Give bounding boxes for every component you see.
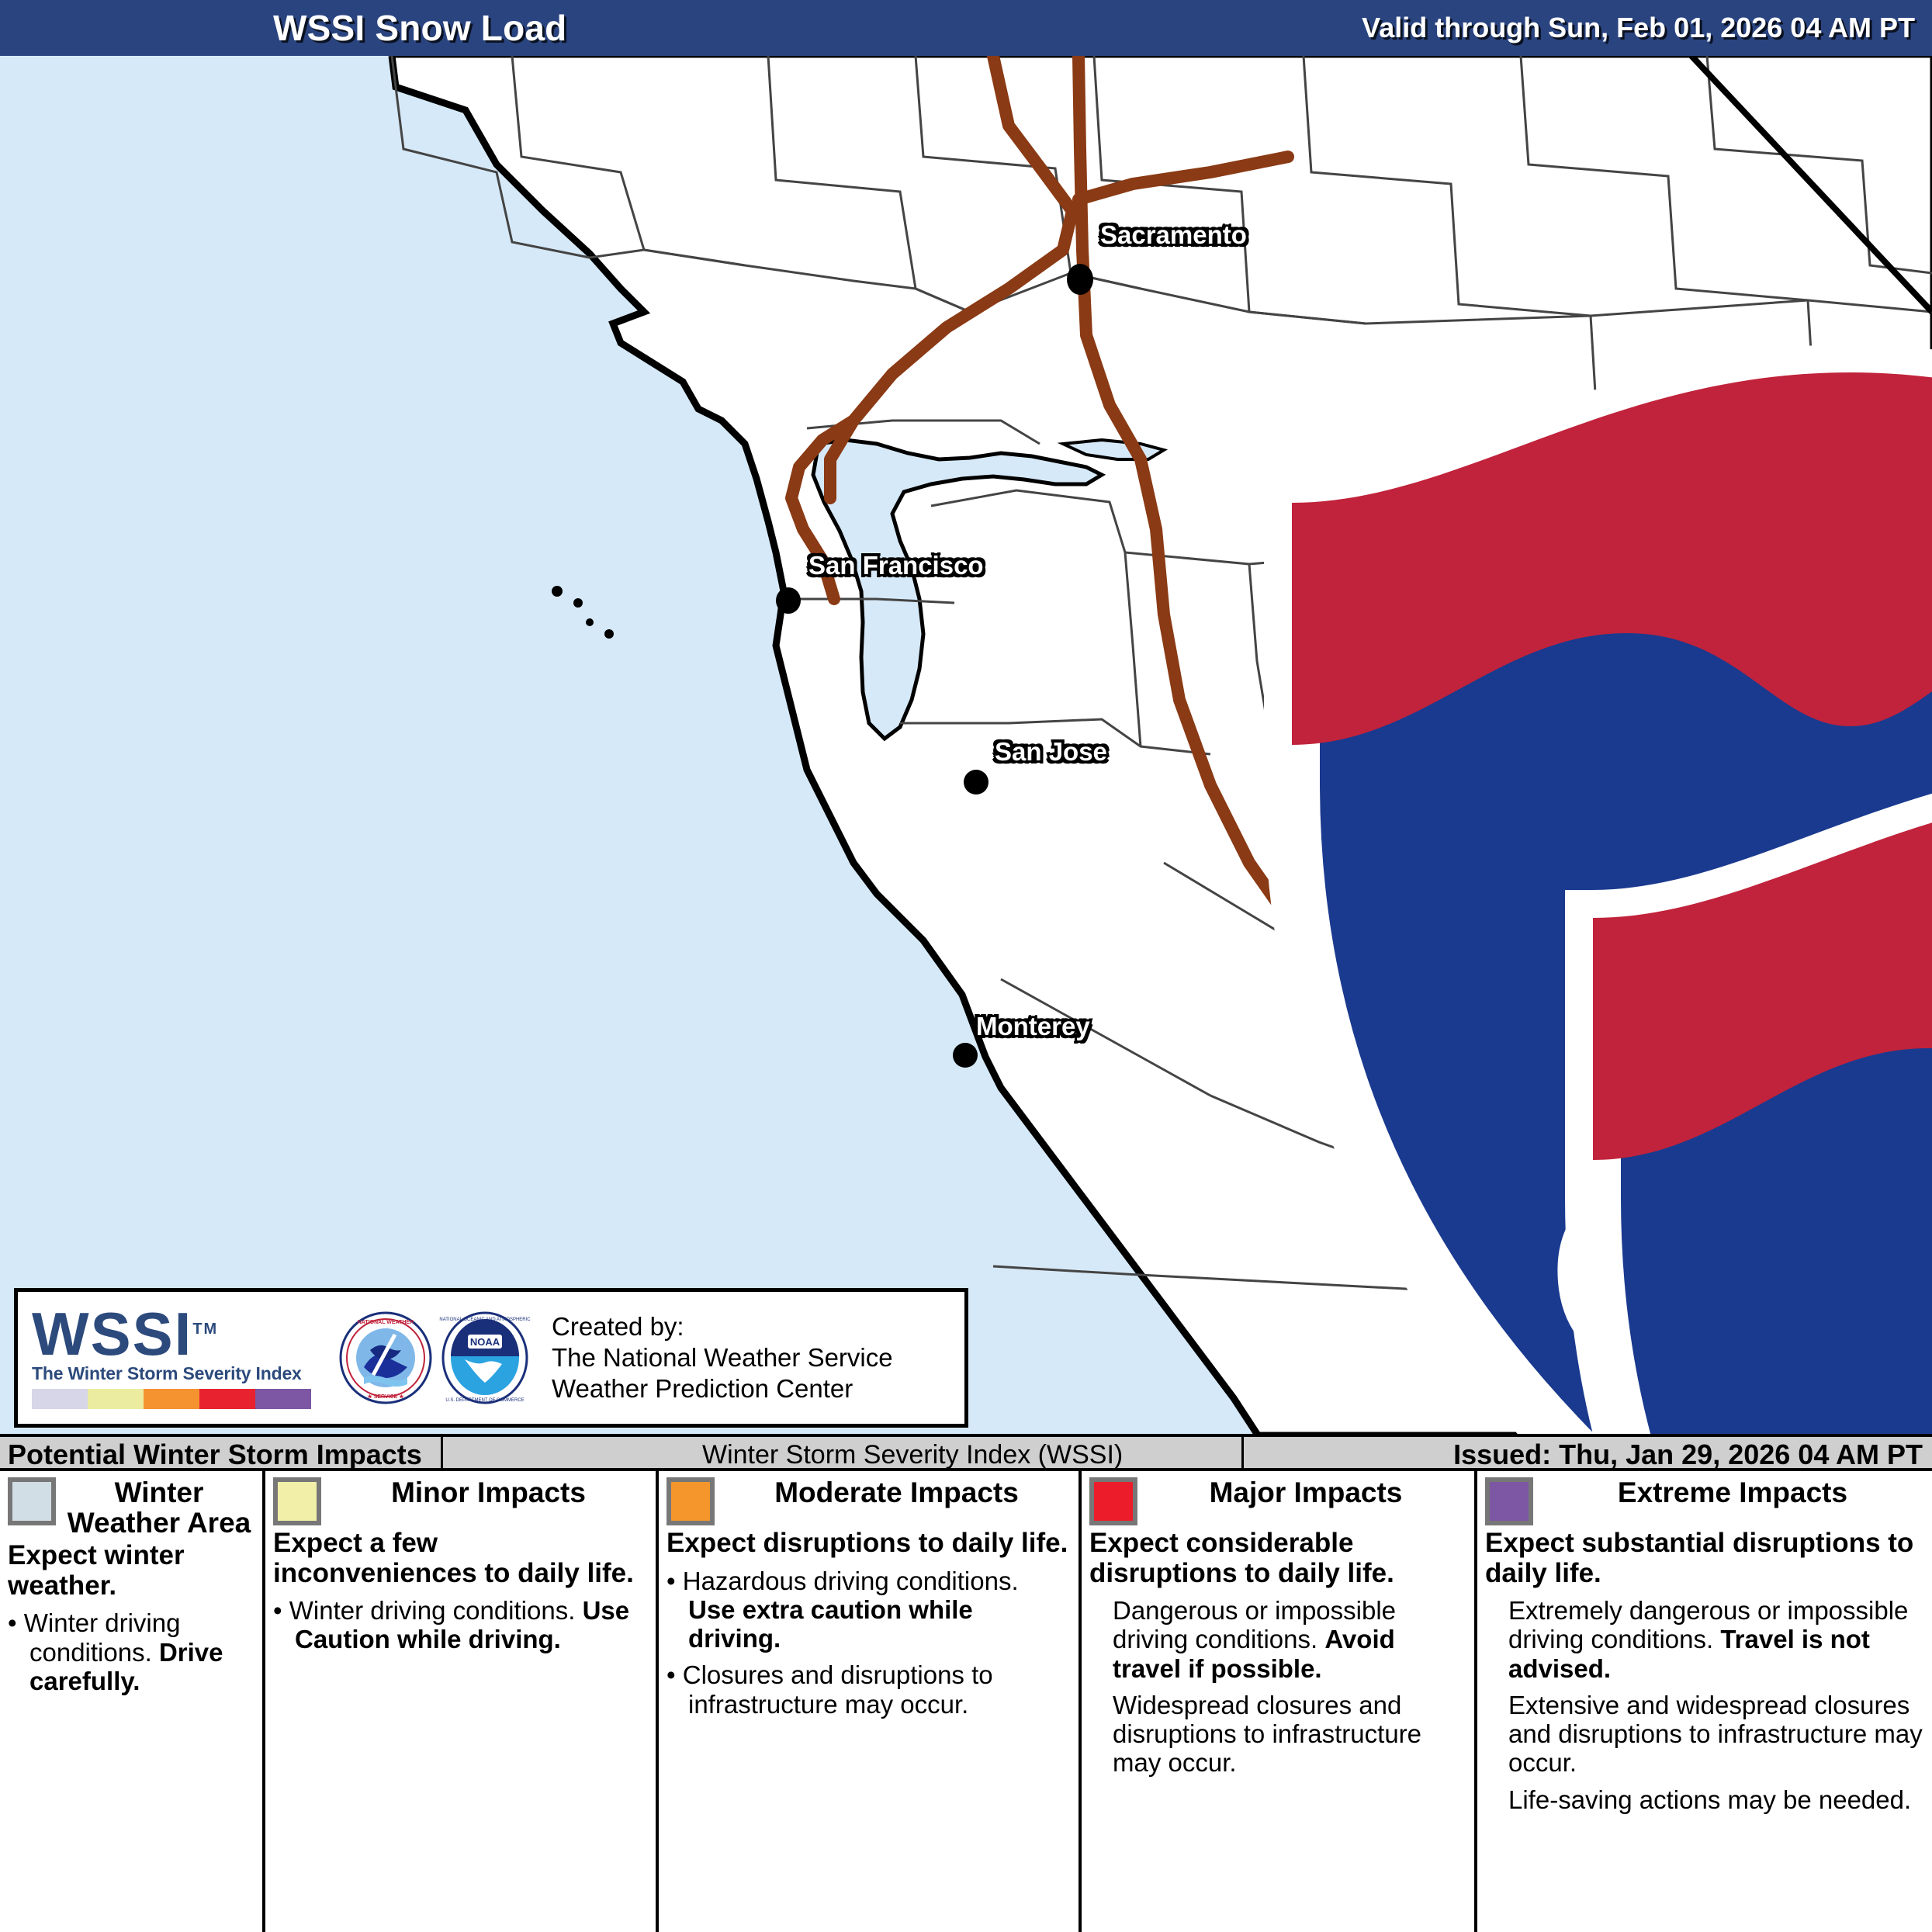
legend-bullets-minor-impacts: • Winter driving conditions. Use Caution…: [273, 1596, 648, 1654]
issued-timestamp: Issued: Thu, Jan 29, 2026 04 AM PT: [1453, 1439, 1923, 1471]
city-label-sacramento: Sacramento: [1100, 220, 1247, 250]
bullet-text: Winter driving conditions.: [24, 1608, 181, 1666]
map-canvas[interactable]: Sacramento San Francisco San Jose Fresno…: [0, 56, 1932, 1434]
bullet-text: Widespread closures and disruptions to i…: [1113, 1691, 1421, 1778]
legend-bullets-winter-weather-area: • Winter driving conditions. Drive caref…: [8, 1608, 254, 1695]
graybar-divider-left: [441, 1437, 443, 1471]
legend-title-moderate-impacts: Moderate Impacts: [722, 1477, 1071, 1508]
swatch-extreme-impacts: [1485, 1477, 1533, 1525]
swatch-moderate-impacts: [667, 1477, 715, 1525]
agency-seals: NATIONAL WEATHER ★ SERVICE ★ NOAA NATION…: [328, 1311, 542, 1404]
legend-header: Moderate Impacts: [667, 1477, 1071, 1525]
title-bar: WSSI Snow Load Valid through Sun, Feb 01…: [0, 0, 1932, 56]
list-item: • Winter driving conditions. Drive caref…: [8, 1608, 254, 1695]
legend-summary-minor-impacts: Expect a few inconveniences to daily lif…: [273, 1529, 648, 1588]
wssi-wordmark: WSSITM: [32, 1307, 328, 1362]
legend-column-extreme-impacts[interactable]: Extreme Impacts Expect substantial disru…: [1474, 1471, 1932, 1932]
impacts-legend: Winter Weather Area Expect winter weathe…: [0, 1471, 1932, 1932]
legend-summary-winter-weather-area: Expect winter weather.: [8, 1541, 254, 1601]
offshore-rock: [573, 598, 583, 608]
valid-through-text: Valid through Sun, Feb 01, 2026 04 AM PT: [1362, 12, 1915, 44]
strip-swatch-minor: [88, 1389, 144, 1409]
created-by-line-1: Created by:: [552, 1311, 893, 1342]
wssi-snow-load-map-page: WSSI Snow Load Valid through Sun, Feb 01…: [0, 0, 1932, 1932]
svg-text:U.S. DEPARTMENT OF COMMERCE: U.S. DEPARTMENT OF COMMERCE: [445, 1398, 524, 1403]
swatch-winter-weather-area: [8, 1477, 56, 1525]
created-by-block: Created by: The National Weather Service…: [542, 1311, 893, 1405]
list-item: • Hazardous driving conditions. Use extr…: [667, 1567, 1071, 1653]
swatch-major-impacts: [1089, 1477, 1137, 1525]
strip-swatch-extreme: [255, 1389, 311, 1409]
city-dot-san-francisco: [776, 587, 801, 614]
list-item: Life-saving actions may be needed.: [1485, 1785, 1924, 1814]
page-title: WSSI Snow Load: [273, 7, 566, 49]
legend-column-minor-impacts[interactable]: Minor Impacts Expect a few inconvenience…: [262, 1471, 656, 1932]
legend-header: Extreme Impacts: [1485, 1477, 1924, 1525]
offshore-rock: [586, 618, 594, 626]
strip-swatch-moderate: [144, 1389, 199, 1409]
created-by-line-2: The National Weather Service: [552, 1342, 893, 1373]
legend-header: Winter Weather Area: [8, 1477, 254, 1538]
strip-swatch-major: [199, 1389, 255, 1409]
legend-title-winter-weather-area: Winter Weather Area: [64, 1477, 254, 1538]
wssi-logo-box: WSSITM The Winter Storm Severity Index: [14, 1288, 968, 1428]
legend-header: Major Impacts: [1089, 1477, 1466, 1525]
offshore-rock: [604, 629, 614, 639]
legend-summary-moderate-impacts: Expect disruptions to daily life.: [667, 1529, 1071, 1559]
graybar-divider-right: [1241, 1437, 1244, 1471]
wssi-color-strip: [32, 1389, 311, 1409]
list-item: Dangerous or impossible driving conditio…: [1089, 1596, 1466, 1683]
bullet-text: Hazardous driving conditions.: [683, 1567, 1019, 1595]
bullet-text: Closures and disruptions to infrastructu…: [683, 1660, 993, 1718]
bullet-emphasis: Use extra caution while driving.: [688, 1595, 973, 1653]
legend-column-winter-weather-area[interactable]: Winter Weather Area Expect winter weathe…: [0, 1471, 262, 1932]
bullet-text: Extensive and widespread closures and di…: [1508, 1691, 1923, 1778]
swatch-minor-impacts: [273, 1477, 321, 1525]
legend-summary-major-impacts: Expect considerable disruptions to daily…: [1089, 1529, 1466, 1588]
wssi-full-name-label: Winter Storm Severity Index (WSSI): [702, 1440, 1123, 1470]
noaa-seal-icon: NOAA NATIONAL OCEANIC AND ATMOSPHERIC U.…: [438, 1311, 531, 1404]
national-weather-service-seal-icon: NATIONAL WEATHER ★ SERVICE ★: [339, 1311, 432, 1404]
trademark-symbol: TM: [192, 1321, 218, 1338]
interstate-5-shield: 5: [1186, 750, 1932, 1434]
impacts-subheader-bar: Potential Winter Storm Impacts Winter St…: [0, 1434, 1932, 1471]
offshore-rock: [552, 586, 563, 597]
bullet-text: Winter driving conditions.: [289, 1596, 583, 1625]
wssi-brand-mark: WSSITM The Winter Storm Severity Index: [18, 1307, 328, 1410]
legend-title-extreme-impacts: Extreme Impacts: [1541, 1477, 1924, 1508]
legend-title-minor-impacts: Minor Impacts: [329, 1477, 648, 1508]
wssi-subtitle: The Winter Storm Severity Index: [32, 1363, 328, 1384]
created-by-line-3: Weather Prediction Center: [552, 1373, 893, 1404]
svg-text:NATIONAL WEATHER: NATIONAL WEATHER: [358, 1320, 414, 1325]
svg-text:NOAA: NOAA: [470, 1336, 500, 1348]
list-item: Extensive and widespread closures and di…: [1485, 1691, 1924, 1778]
strip-swatch-winter-weather: [32, 1389, 88, 1409]
legend-summary-extreme-impacts: Expect substantial disruptions to daily …: [1485, 1529, 1924, 1588]
list-item: Widespread closures and disruptions to i…: [1089, 1691, 1466, 1778]
legend-bullets-moderate-impacts: • Hazardous driving conditions. Use extr…: [667, 1567, 1071, 1719]
legend-bullets-extreme-impacts: Extremely dangerous or impossible drivin…: [1485, 1596, 1924, 1814]
legend-column-moderate-impacts[interactable]: Moderate Impacts Expect disruptions to d…: [656, 1471, 1079, 1932]
city-dot-sacramento: [1067, 264, 1093, 295]
potential-impacts-label: Potential Winter Storm Impacts: [8, 1439, 422, 1471]
legend-bullets-major-impacts: Dangerous or impossible driving conditio…: [1089, 1596, 1466, 1778]
list-item: Extremely dangerous or impossible drivin…: [1485, 1596, 1924, 1683]
svg-text:★ SERVICE ★: ★ SERVICE ★: [367, 1394, 404, 1400]
bullet-text: Life-saving actions may be needed.: [1508, 1785, 1911, 1814]
svg-text:NATIONAL OCEANIC AND ATMOSPHER: NATIONAL OCEANIC AND ATMOSPHERIC: [439, 1317, 531, 1322]
legend-title-major-impacts: Major Impacts: [1145, 1477, 1466, 1508]
legend-column-major-impacts[interactable]: Major Impacts Expect considerable disrup…: [1079, 1471, 1474, 1932]
list-item: • Winter driving conditions. Use Caution…: [273, 1596, 648, 1654]
legend-header: Minor Impacts: [273, 1477, 648, 1525]
list-item: • Closures and disruptions to infrastruc…: [667, 1660, 1071, 1719]
